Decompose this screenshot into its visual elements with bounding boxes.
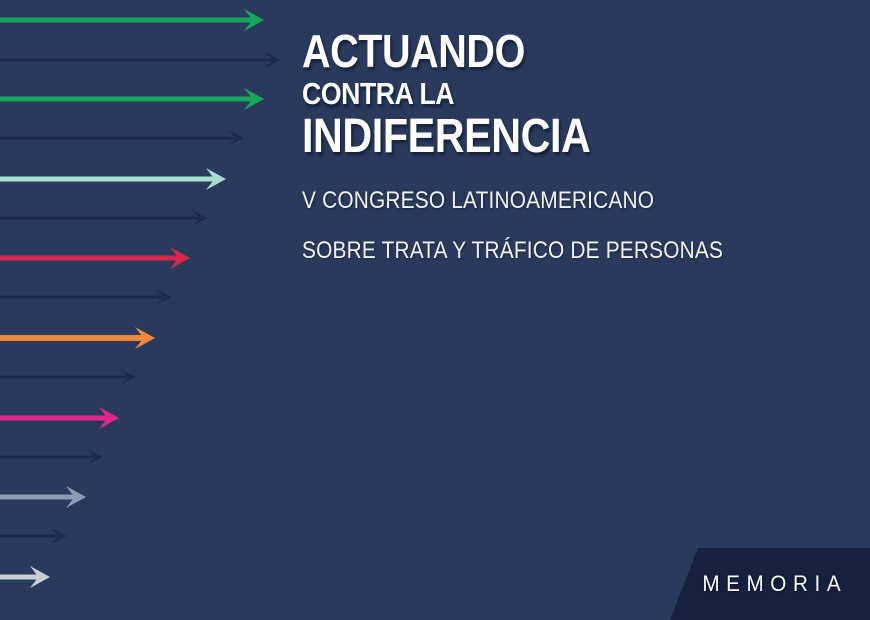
subtitle-block: V CONGRESO LATINOAMERICANO SOBRE TRATA Y… (302, 189, 822, 263)
arrow-red-1 (0, 247, 190, 269)
arrow-dark-6 (0, 449, 103, 465)
arrow-orange-1 (0, 327, 155, 349)
arrow-pink-1 (0, 407, 119, 429)
memoria-label: MEMORIA (693, 571, 847, 597)
arrow-dark-3 (0, 210, 208, 226)
title-text-block: ACTUANDO CONTRA LA INDIFERENCIA V CONGRE… (302, 28, 822, 263)
arrow-dark-1 (0, 52, 281, 68)
page-title-line-1: ACTUANDO (302, 28, 749, 74)
arrow-dark-2 (0, 130, 244, 146)
arrow-graphic (0, 0, 290, 620)
memoria-banner: MEMORIA (670, 548, 870, 620)
arrow-dark-7 (0, 528, 67, 544)
arrow-mint-1 (0, 168, 226, 190)
subtitle-line-2: SOBRE TRATA Y TRÁFICO DE PERSONAS (302, 239, 754, 263)
arrow-green-2 (0, 88, 264, 110)
poster-cover: ACTUANDO CONTRA LA INDIFERENCIA V CONGRE… (0, 0, 870, 620)
arrow-dark-5 (0, 369, 136, 385)
arrow-dark-4 (0, 289, 172, 305)
arrow-light-gray-1 (0, 566, 50, 588)
page-title-line-2: CONTRA LA (302, 78, 749, 109)
arrow-decoration-layer (0, 0, 290, 620)
arrow-green-1 (0, 9, 264, 31)
page-title-line-3: INDIFERENCIA (302, 113, 749, 161)
subtitle-line-1: V CONGRESO LATINOAMERICANO (302, 189, 754, 213)
arrow-gray-blue-1 (0, 486, 86, 508)
